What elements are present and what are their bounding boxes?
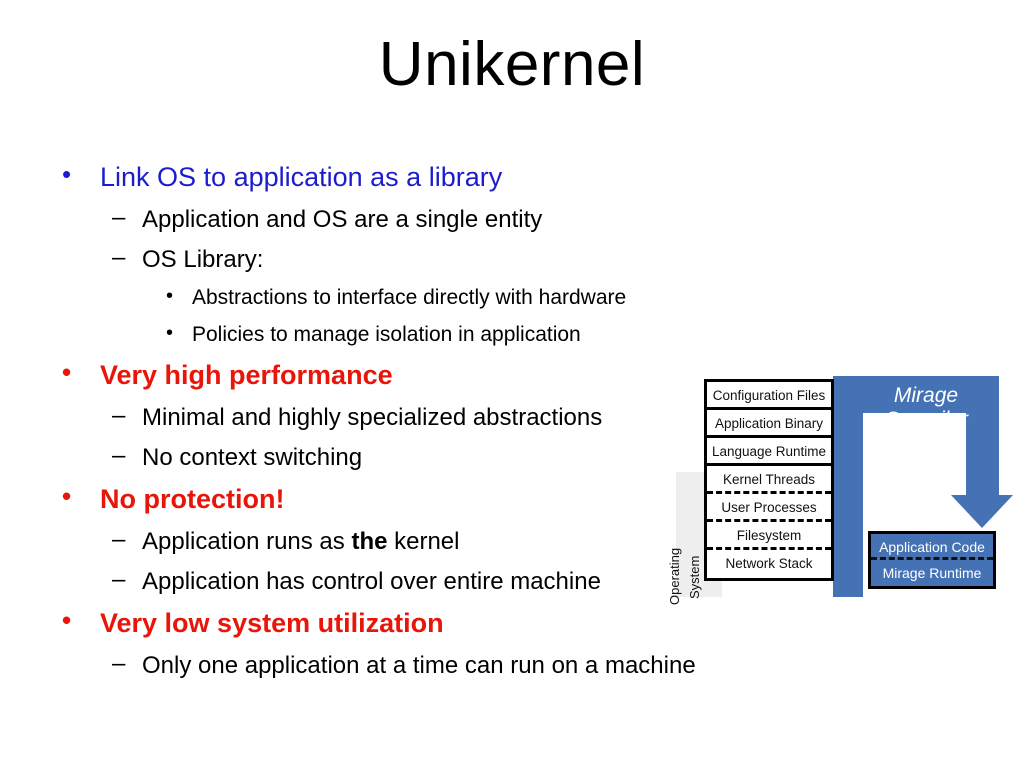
bullet-text-emphasis: the [351, 528, 387, 555]
bullet-text: Application has control over entire mach… [142, 568, 601, 596]
bullet-item: •Very high performance [56, 360, 756, 404]
bullet-text: Very low system utilization [100, 608, 444, 639]
output-layer: Application Code [871, 534, 993, 560]
bullet-marker-icon: • [166, 323, 192, 343]
bullet-marker-icon: • [56, 359, 100, 385]
bullet-text-segment: kernel [387, 528, 459, 555]
bullet-marker-icon: • [56, 607, 100, 633]
bullet-text: No protection! [100, 484, 284, 515]
mirage-compiler-label-line1: Mirage [858, 384, 994, 408]
stack-layer: Filesystem [707, 522, 831, 550]
output-layer: Mirage Runtime [871, 560, 993, 586]
mirage-compiler-label: Mirage Compiler [858, 384, 994, 431]
bullet-text: Application runs as the kernel [142, 528, 460, 556]
bullet-marker-icon: – [112, 652, 142, 676]
operating-system-label-word2: System [687, 556, 702, 599]
bullet-item: –Application has control over entire mac… [56, 568, 756, 608]
bullet-item: –OS Library: [56, 246, 756, 286]
stack-layer: Application Binary [707, 410, 831, 438]
compiler-arrow-head-icon [951, 495, 1013, 528]
bullet-item: •Abstractions to interface directly with… [56, 286, 756, 323]
bullet-item: •Policies to manage isolation in applica… [56, 323, 756, 360]
stack-layer: User Processes [707, 494, 831, 522]
bullet-marker-icon: • [56, 483, 100, 509]
bullet-item: –Application runs as the kernel [56, 528, 756, 568]
bullet-marker-icon: – [112, 528, 142, 552]
bullet-marker-icon: – [112, 246, 142, 270]
stack-layer: Kernel Threads [707, 466, 831, 494]
bullet-item: –No context switching [56, 444, 756, 484]
bullet-text: Abstractions to interface directly with … [192, 286, 626, 310]
stack-layer: Language Runtime [707, 438, 831, 466]
mirage-compiler-label-line2: Compiler [858, 408, 994, 432]
bullet-item: •No protection! [56, 484, 756, 528]
bullet-text: Application and OS are a single entity [142, 206, 542, 234]
bullet-marker-icon: – [112, 206, 142, 230]
mirage-architecture-diagram: Mirage Compiler Operating System Configu… [676, 376, 1002, 602]
bullet-text: OS Library: [142, 246, 263, 274]
bullet-item: –Only one application at a time can run … [56, 652, 756, 692]
bullet-text: No context switching [142, 444, 362, 472]
bullet-item: –Application and OS are a single entity [56, 206, 756, 246]
page-title: Unikernel [0, 32, 1024, 97]
bullet-text: Only one application at a time can run o… [142, 652, 696, 680]
bullet-text: Minimal and highly specialized abstracti… [142, 404, 602, 432]
bullet-marker-icon: • [56, 161, 100, 187]
bullet-text: Policies to manage isolation in applicat… [192, 323, 581, 347]
bullet-item: •Link OS to application as a library [56, 162, 756, 206]
bullet-marker-icon: • [166, 286, 192, 306]
bullet-list: •Link OS to application as a library–App… [56, 162, 756, 692]
os-stack-boxes: Configuration FilesApplication BinaryLan… [704, 379, 834, 581]
operating-system-label-word1: Operating [667, 548, 682, 605]
unikernel-output-box: Application CodeMirage Runtime [868, 531, 996, 589]
bullet-text-segment: Application runs as [142, 528, 351, 555]
bullet-text: Link OS to application as a library [100, 162, 502, 193]
bullet-item: –Minimal and highly specialized abstract… [56, 404, 756, 444]
bullet-marker-icon: – [112, 444, 142, 468]
bullet-marker-icon: – [112, 568, 142, 592]
bullet-item: •Very low system utilization [56, 608, 756, 652]
stack-layer: Configuration Files [707, 382, 831, 410]
stack-layer: Network Stack [707, 550, 831, 578]
bullet-text: Very high performance [100, 360, 393, 391]
bullet-marker-icon: – [112, 404, 142, 428]
